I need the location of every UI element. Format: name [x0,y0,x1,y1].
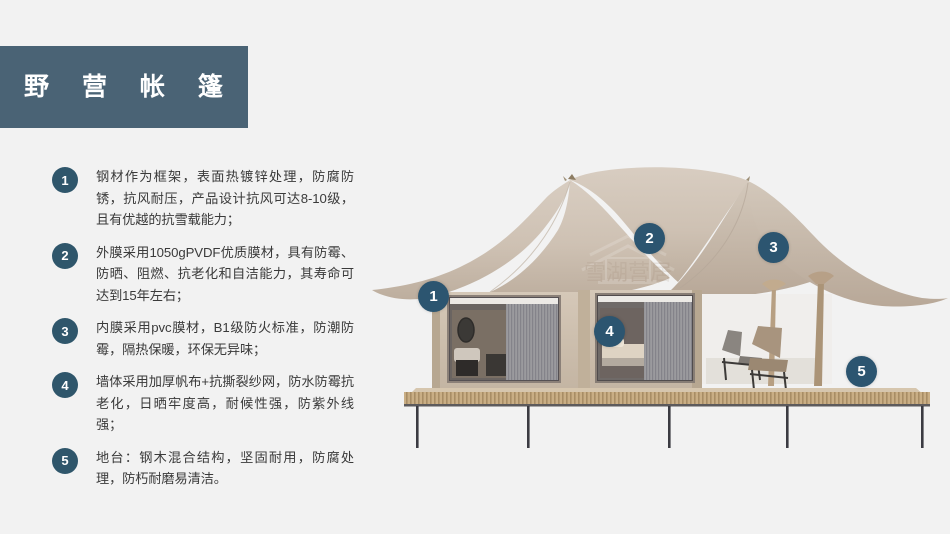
deck-edge-stripe [404,392,930,404]
title-banner: 野 营 帐 篷 [0,46,248,128]
deck-leg [668,406,671,448]
feature-text: 外膜采用1050gPVDF优质膜材，具有防霉、防晒、阻燃、抗老化和自洁能力，其寿… [96,242,354,307]
list-item: 3 内膜采用pvc膜材，B1级防火标准，防潮防霉，隔热保暖，环保无异味； [52,317,372,360]
callout-marker-3[interactable]: 3 [758,232,789,263]
window-left-bathroom [448,296,560,382]
slide-root: 野 营 帐 篷 1 钢材作为框架，表面热镀锌处理，防腐防锈，抗风耐压，产品设计抗… [0,0,950,534]
feature-number-badge: 1 [52,167,78,193]
list-item: 5 地台：钢木混合结构，坚固耐用，防腐处理，防朽耐磨易清洁。 [52,447,372,490]
list-item: 4 墙体采用加厚帆布+抗撕裂纱网，防水防霉抗老化，日晒牢度高，耐候性强，防紫外线… [52,371,372,436]
svg-text:雪湖营居: 雪湖营居 [584,261,672,286]
feature-number-badge: 5 [52,448,78,474]
feature-number-badge: 2 [52,243,78,269]
vanity [454,348,480,362]
callout-marker-5[interactable]: 5 [846,356,877,387]
feature-text: 内膜采用pvc膜材，B1级防火标准，防潮防霉，隔热保暖，环保无异味； [96,317,354,360]
canopy-peak-right [746,176,750,181]
list-item: 1 钢材作为框架，表面热镀锌处理，防腐防锈，抗风耐压，产品设计抗风可达8-10级… [52,166,372,231]
mirror [458,318,474,342]
list-item: 2 外膜采用1050gPVDF优质膜材，具有防霉、防晒、阻燃、抗老化和自洁能力，… [52,242,372,307]
canopy-peak-center [568,174,576,180]
deck-leg [786,406,789,448]
steel-post-mid [578,290,590,388]
feature-text: 钢材作为框架，表面热镀锌处理，防腐防锈，抗风耐压，产品设计抗风可达8-10级，且… [96,166,354,231]
feature-text: 地台：钢木混合结构，坚固耐用，防腐处理，防朽耐磨易清洁。 [96,447,354,490]
deck-leg [527,406,530,448]
feature-number-badge: 3 [52,318,78,344]
deck-leg [416,406,419,448]
page-title: 野 营 帐 篷 [24,75,236,100]
feature-number-badge: 4 [52,372,78,398]
deck-leg [921,406,924,448]
deck-edge-line [404,404,930,407]
camping-tent-image: 雪湖营居 [370,158,950,448]
feature-text: 墙体采用加厚帆布+抗撕裂纱网，防水防霉抗老化，日晒牢度高，耐候性强，防紫外线强； [96,371,354,436]
callout-marker-4[interactable]: 4 [594,316,625,347]
callout-marker-2[interactable]: 2 [634,223,665,254]
callout-marker-1[interactable]: 1 [418,281,449,312]
canopy-peak-left [563,176,567,181]
feature-list: 1 钢材作为框架，表面热镀锌处理，防腐防锈，抗风耐压，产品设计抗风可达8-10级… [52,166,372,501]
